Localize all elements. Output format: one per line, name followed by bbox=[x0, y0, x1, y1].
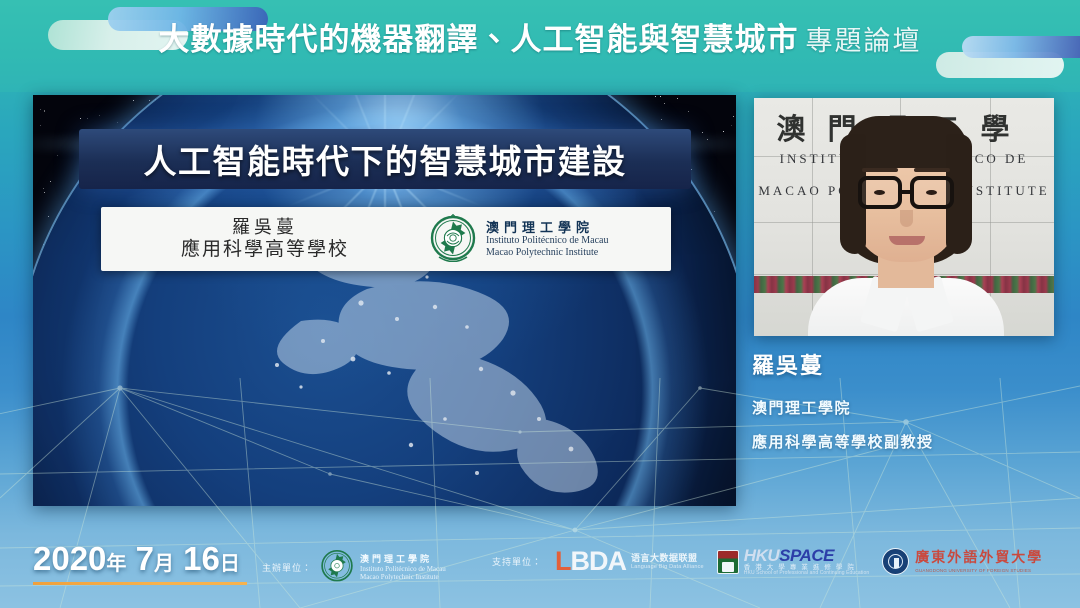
mpi-name-cn: 澳門理工學院 bbox=[486, 220, 608, 235]
slide-speaker-school: 應用科學高等學校 bbox=[101, 238, 429, 262]
event-title-sub: 專題論壇 bbox=[806, 26, 922, 56]
lbda-mark-bda: BDA bbox=[571, 546, 627, 576]
host-name-en: Macao Polytechnic Institute bbox=[360, 573, 446, 581]
gdufs-name-en: GUANGDONG UNIVERSITY OF FOREIGN STUDIES bbox=[915, 568, 1043, 574]
event-date: 2020年 7月 16日 bbox=[33, 540, 247, 578]
date-month-unit: 月 bbox=[154, 553, 174, 575]
hku-mark-space: SPACE bbox=[779, 546, 834, 565]
host-label: 主辦單位： bbox=[262, 561, 312, 574]
event-title-main: 大數據時代的機器翻譯、人工智能與智慧城市 bbox=[159, 22, 799, 57]
supporter-logo-hkuspace: HKUSPACE 香 港 大 學 專 業 進 修 學 院 HKU School … bbox=[717, 547, 869, 577]
date-underline-accent bbox=[33, 582, 247, 585]
speaker-name: 羅吳蔓 bbox=[752, 348, 1062, 380]
slide-speaker-name: 羅吳蔓 bbox=[101, 216, 429, 239]
hku-mark-hku: HKU bbox=[744, 546, 779, 565]
lbda-name-cn: 语言大数据联盟 bbox=[631, 553, 704, 564]
event-date-block: 2020年 7月 16日 bbox=[33, 540, 247, 585]
slide-speaker-info: 羅吳蔓 應用科學高等學校 bbox=[101, 216, 429, 263]
mpi-name-en: Macao Polytechnic Institute bbox=[486, 247, 608, 259]
slide-headline-text: 人工智能時代下的智慧城市建設 bbox=[144, 135, 627, 183]
date-day: 16 bbox=[183, 540, 220, 577]
host-name-cn: 澳門理工學院 bbox=[360, 554, 446, 564]
supporter-logo-gdufs: 廣東外語外貿大學 GUANGDONG UNIVERSITY OF FOREIGN… bbox=[882, 548, 1043, 575]
speaker-webcam-panel[interactable]: 澳門理工學 INSTITUTO POLITÉCNICO DE MACAU MAC… bbox=[754, 98, 1054, 336]
mpi-footer-seal-icon bbox=[320, 547, 354, 588]
broadcast-stage: 大數據時代的機器翻譯、人工智能與智慧城市專題論壇 bbox=[0, 0, 1080, 608]
speaker-caption: 羅吳蔓 澳門理工學院 應用科學高等學校副教授 bbox=[752, 348, 1062, 465]
supporter-logo-lbda: LBDA 语言大数据联盟 Language Big Data Alliance bbox=[555, 548, 704, 575]
gdufs-seal-icon bbox=[882, 548, 909, 575]
support-label: 支持單位： bbox=[492, 555, 542, 568]
event-title: 大數據時代的機器翻譯、人工智能與智慧城市專題論壇 bbox=[0, 24, 1080, 55]
mpi-name-pt: Instituto Politécnico de Macau bbox=[486, 235, 608, 247]
mpi-seal-icon bbox=[429, 212, 477, 267]
lbda-mark-l: L bbox=[555, 546, 571, 576]
host-organizer-group: 主辦單位： 澳門理工學院 bbox=[262, 547, 446, 588]
supporter-group: 支持單位： LBDA 语言大数据联盟 Language Big Data All… bbox=[492, 547, 1043, 577]
host-logo-mpi: 澳門理工學院 Instituto Politécnico de Macau Ma… bbox=[320, 547, 446, 588]
date-day-unit: 日 bbox=[220, 553, 240, 575]
footer-bar: 2020年 7月 16日 主辦單位： bbox=[0, 530, 1080, 608]
date-month: 7 bbox=[136, 540, 154, 577]
lbda-name-en: Language Big Data Alliance bbox=[631, 564, 704, 571]
slide-speaker-card: 羅吳蔓 應用科學高等學校 bbox=[101, 207, 671, 271]
slide-institute-logo: 澳門理工學院 Instituto Politécnico de Macau Ma… bbox=[429, 212, 608, 267]
speaker-title: 應用科學高等學校副教授 bbox=[752, 431, 1062, 452]
host-name-pt: Instituto Politécnico de Macau bbox=[360, 565, 446, 573]
hku-crest-icon bbox=[717, 550, 739, 574]
slide-headline-bar: 人工智能時代下的智慧城市建設 bbox=[79, 129, 691, 189]
date-year-unit: 年 bbox=[106, 553, 126, 575]
gdufs-name-cn: 廣東外語外貿大學 bbox=[915, 550, 1043, 568]
speaker-affiliation: 澳門理工學院 bbox=[752, 397, 1062, 418]
hku-name-en: HKU School of Professional and Continuin… bbox=[744, 571, 869, 577]
date-year: 2020 bbox=[33, 540, 106, 577]
